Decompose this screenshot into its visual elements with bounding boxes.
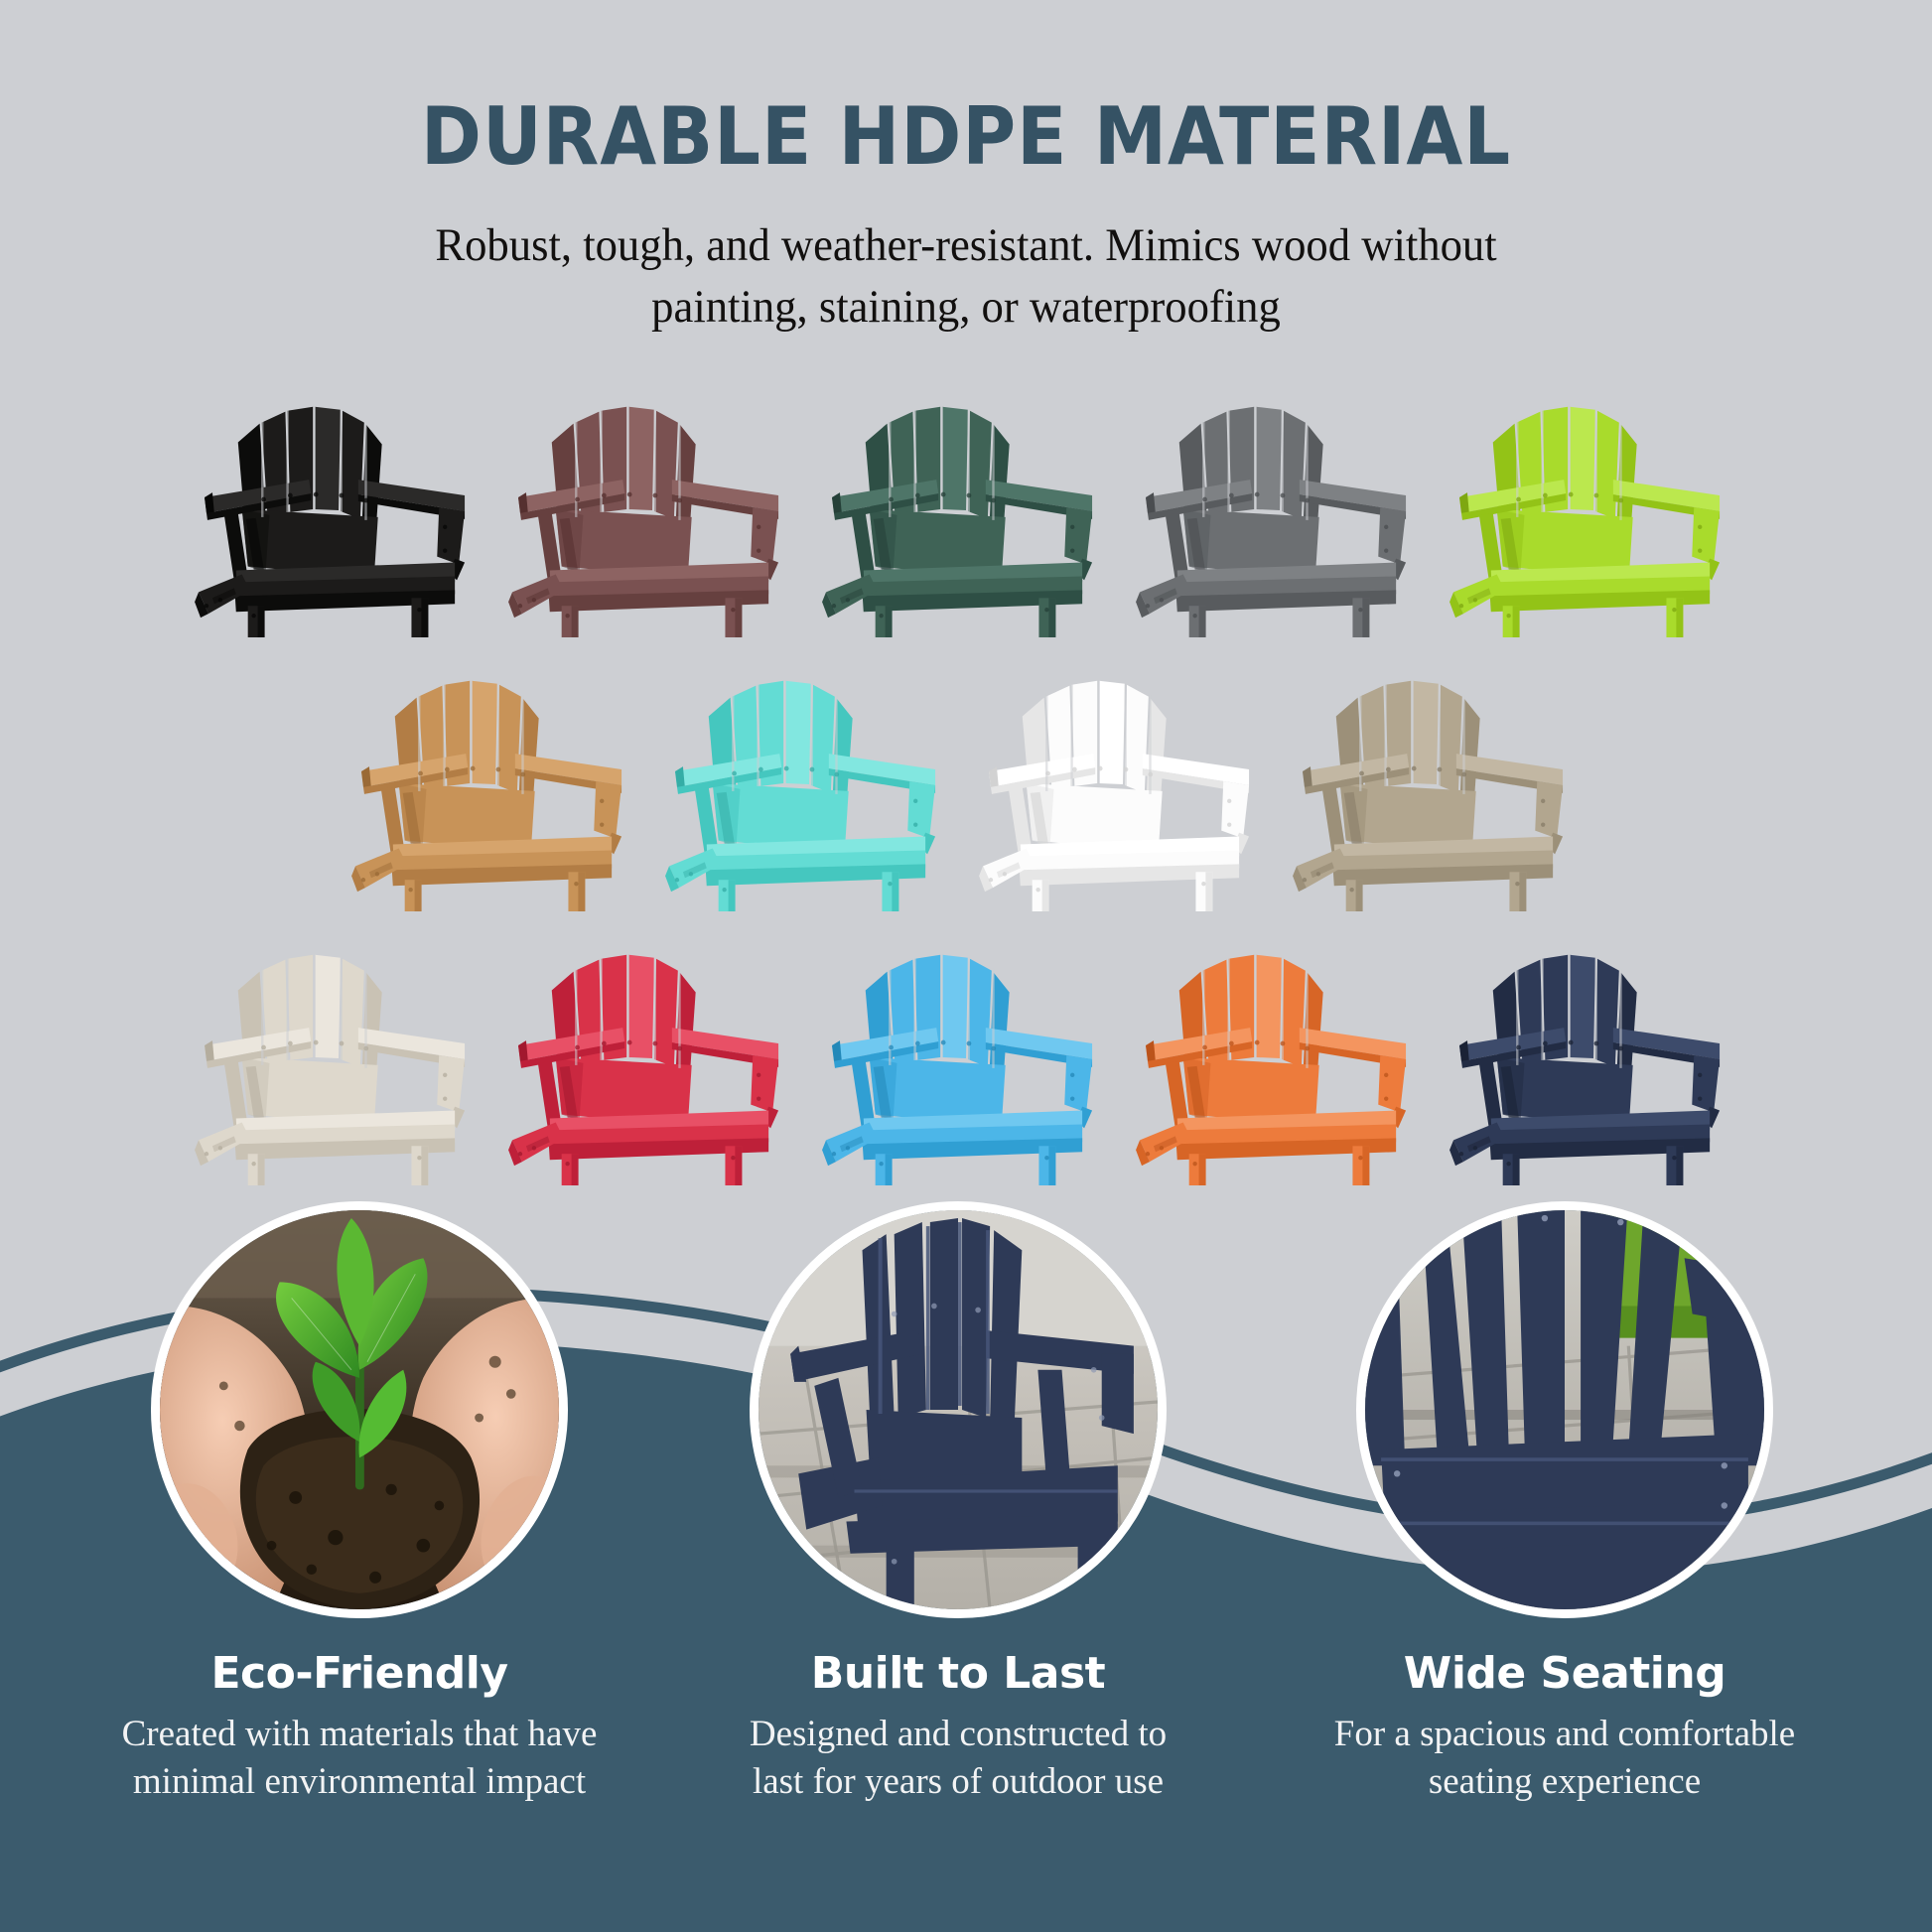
chair-swatch-white[interactable]: [974, 643, 1272, 911]
adirondack-chair-navy-blue: [1445, 917, 1742, 1185]
feature-desc-line-2: last for years of outdoor use: [660, 1758, 1256, 1806]
feature-desc-line-1: For a spacious and comfortable: [1267, 1711, 1863, 1758]
chair-swatch-khaki[interactable]: [1288, 643, 1586, 911]
adirondack-chair-teak: [346, 643, 644, 911]
chair-color-row-1: [0, 369, 1932, 637]
chair-color-row-3: [0, 917, 1932, 1185]
feature-desc-line-2: minimal environmental impact: [62, 1758, 657, 1806]
feature-eco-friendly: Eco-Friendly Created with materials that…: [52, 1201, 667, 1806]
chair-swatch-light-blue[interactable]: [817, 917, 1115, 1185]
adirondack-chair-ivory: [190, 917, 487, 1185]
chair-swatch-dark-green[interactable]: [817, 369, 1115, 637]
feature-list: Eco-Friendly Created with materials that…: [0, 1217, 1932, 1932]
feature-title: Eco-Friendly: [52, 1648, 667, 1699]
feature-description: Designed and constructed to last for yea…: [650, 1711, 1266, 1806]
feature-desc-line-1: Designed and constructed to: [660, 1711, 1256, 1758]
chair-color-row-2: [0, 643, 1932, 911]
adirondack-chair-brown: [503, 369, 801, 637]
chair-swatch-black[interactable]: [190, 369, 487, 637]
chair-swatch-turquoise[interactable]: [660, 643, 958, 911]
chair-swatch-navy-blue[interactable]: [1445, 917, 1742, 1185]
chair-swatch-ivory[interactable]: [190, 917, 487, 1185]
page-subtitle: Robust, tough, and weather-resistant. Mi…: [49, 214, 1884, 338]
chair-swatch-brown[interactable]: [503, 369, 801, 637]
adirondack-chair-light-blue: [817, 917, 1115, 1185]
adirondack-chair-turquoise: [660, 643, 958, 911]
chair-swatch-gray[interactable]: [1131, 369, 1429, 637]
navy-adirondack-chair-on-patio-photo: [750, 1201, 1167, 1618]
feature-wide-seating: Wide Seating For a spacious and comforta…: [1257, 1201, 1872, 1806]
chair-swatch-red[interactable]: [503, 917, 801, 1185]
adirondack-chair-gray: [1131, 369, 1429, 637]
chair-swatch-teak[interactable]: [346, 643, 644, 911]
feature-title: Wide Seating: [1257, 1648, 1872, 1699]
adirondack-chair-lime-green: [1445, 369, 1742, 637]
adirondack-chair-white: [974, 643, 1272, 911]
feature-built-to-last: Built to Last Designed and constructed t…: [650, 1201, 1266, 1806]
chair-swatch-orange[interactable]: [1131, 917, 1429, 1185]
header: DURABLE HDPE MATERIAL Robust, tough, and…: [0, 0, 1932, 338]
adirondack-chair-dark-green: [817, 369, 1115, 637]
infographic-canvas: DURABLE HDPE MATERIAL Robust, tough, and…: [0, 0, 1932, 1932]
adirondack-chair-black: [190, 369, 487, 637]
subtitle-line-2: painting, staining, or waterproofing: [49, 276, 1884, 338]
subtitle-line-1: Robust, tough, and weather-resistant. Mi…: [49, 214, 1884, 276]
chair-swatch-lime-green[interactable]: [1445, 369, 1742, 637]
navy-chair-wide-seat-closeup-photo: [1356, 1201, 1773, 1618]
hands-holding-seedling-photo: [151, 1201, 568, 1618]
page-title: DURABLE HDPE MATERIAL: [77, 95, 1855, 179]
feature-title: Built to Last: [650, 1648, 1266, 1699]
adirondack-chair-khaki: [1288, 643, 1586, 911]
feature-desc-line-1: Created with materials that have: [62, 1711, 657, 1758]
feature-desc-line-2: seating experience: [1267, 1758, 1863, 1806]
feature-description: Created with materials that have minimal…: [52, 1711, 667, 1806]
adirondack-chair-orange: [1131, 917, 1429, 1185]
feature-description: For a spacious and comfortable seating e…: [1257, 1711, 1872, 1806]
adirondack-chair-red: [503, 917, 801, 1185]
